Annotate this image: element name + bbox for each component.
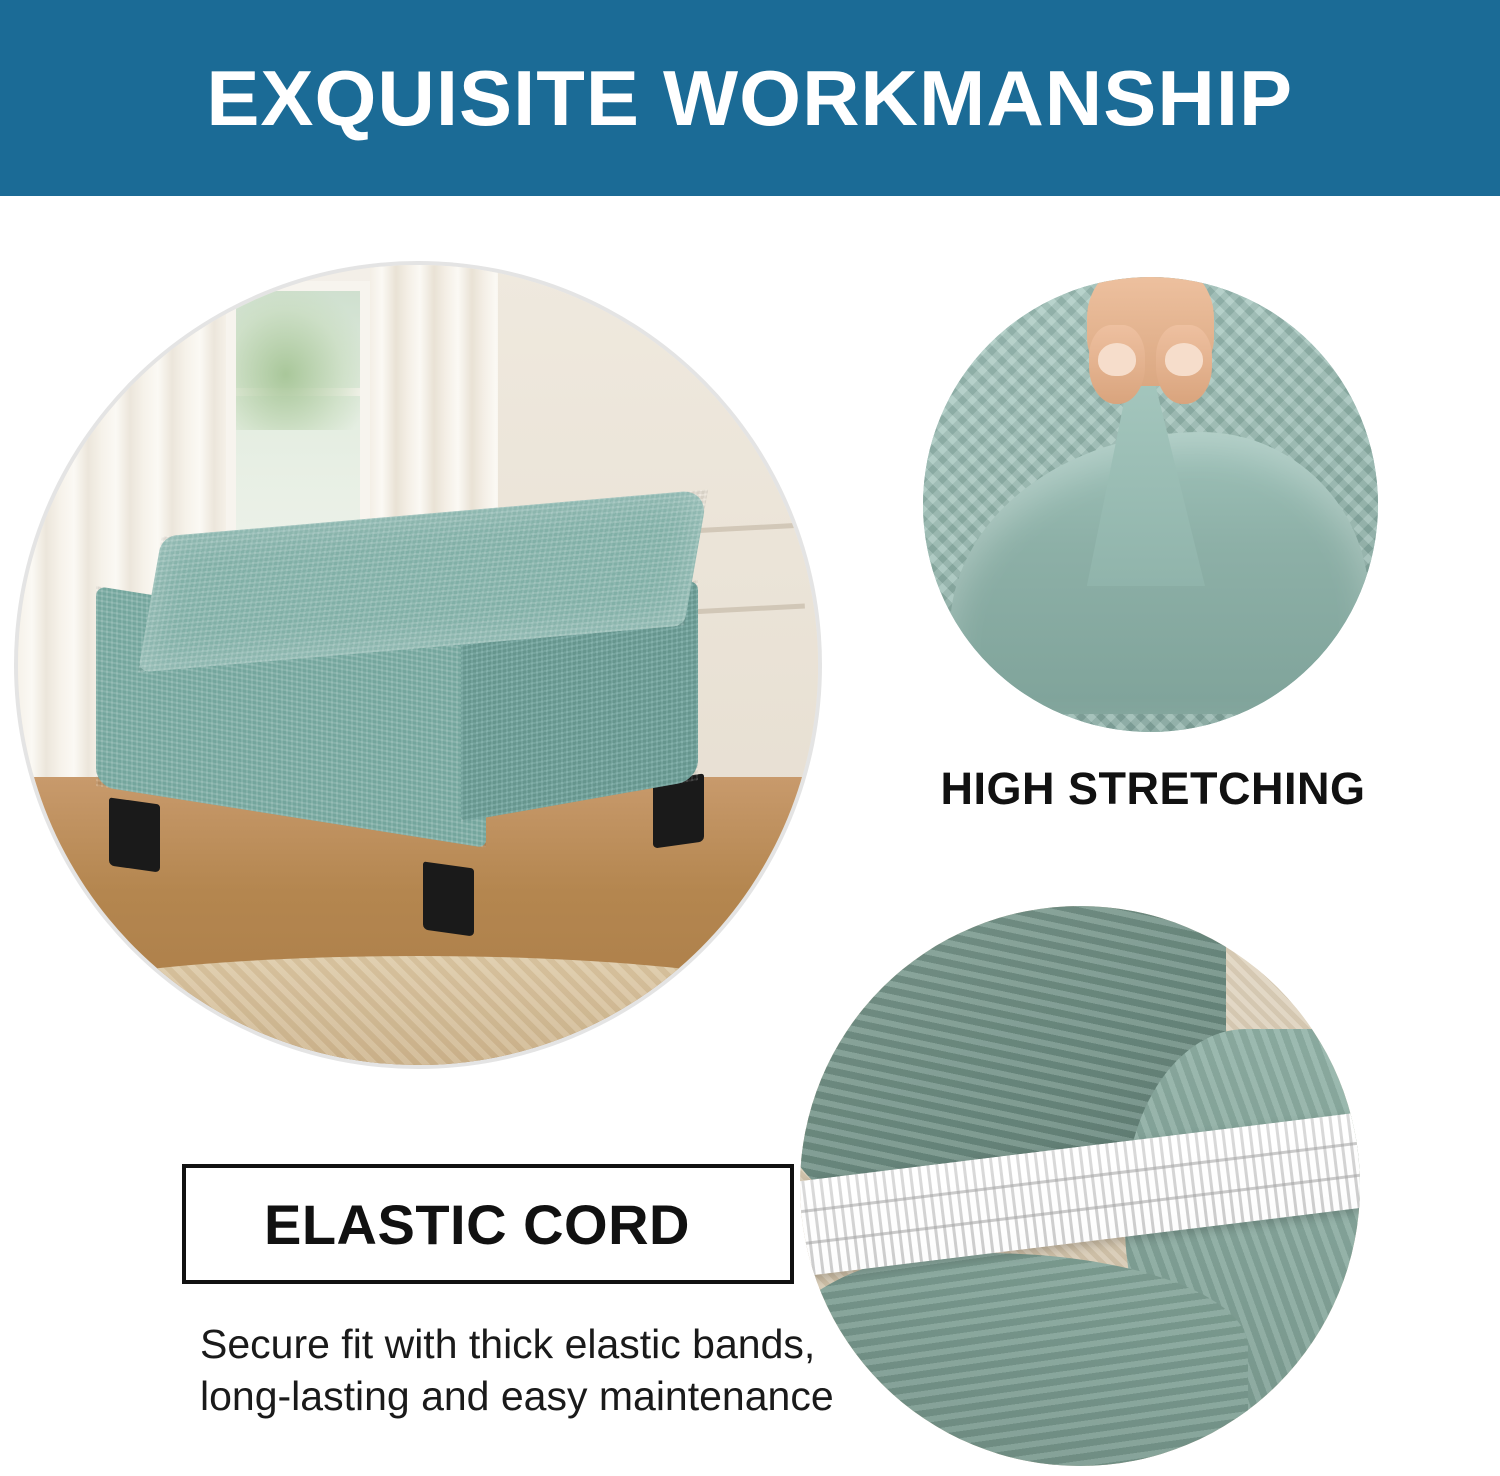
high-stretching-photo [923,277,1378,732]
elastic-cord-label: ELASTIC CORD [264,1192,690,1257]
ottoman-with-slipcover [90,513,730,913]
high-stretching-label: HIGH STRETCHING [908,763,1398,815]
main-product-photo [18,265,818,1065]
elastic-cord-description: Secure fit with thick elastic bands, lon… [200,1318,840,1423]
hand-icon [1087,277,1214,386]
slipcover-fabric-lower [800,1253,1248,1466]
jute-rug [18,956,818,1065]
ottoman-leg [109,797,160,872]
header-banner: EXQUISITE WORKMANSHIP [0,0,1500,196]
page-title: EXQUISITE WORKMANSHIP [207,59,1294,137]
elastic-cord-photo [800,906,1360,1466]
fingernail [1165,343,1203,376]
fingernail [1098,343,1136,376]
elastic-cord-label-box: ELASTIC CORD [182,1164,794,1284]
ottoman-leg [423,861,474,936]
